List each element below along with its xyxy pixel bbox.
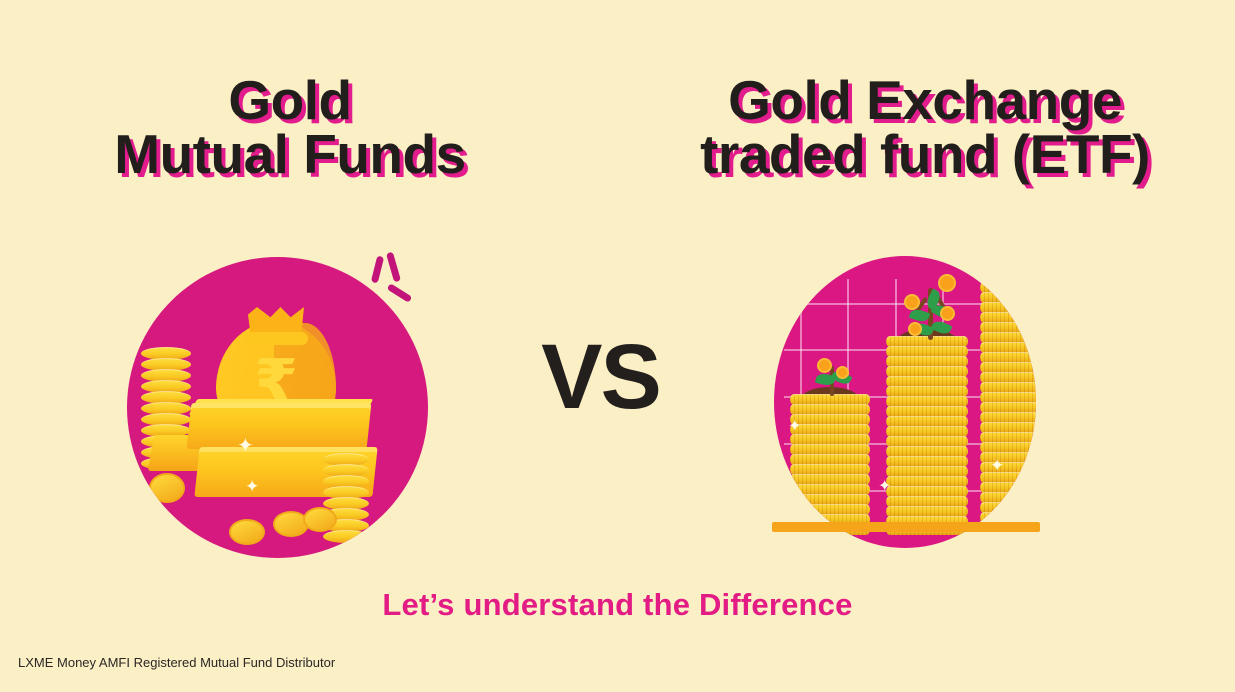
sparkle-icon: ✦	[788, 418, 801, 434]
sparkle-icon: ✦	[878, 478, 891, 494]
sparkle-icon: ✦	[245, 479, 259, 496]
sparkle-icon: ✦	[237, 435, 254, 455]
loose-coin-icon	[149, 473, 185, 503]
coin-stack-small-icon	[790, 394, 870, 534]
money-bag-tie	[244, 332, 308, 345]
money-plant-large-icon	[984, 256, 1036, 276]
sparkle-icon: ✦	[990, 458, 1004, 475]
loose-coin-icon	[229, 519, 265, 545]
illustration-gold-etf: ✦ ✦ ✦	[774, 256, 1036, 548]
coin-stack-medium-icon	[886, 336, 968, 534]
gold-bar-top-icon	[187, 403, 372, 449]
chart-base-bar	[772, 522, 1040, 532]
page-title-right: Gold Exchange traded fund (ETF)	[620, 74, 1230, 182]
page-title-left: Gold Mutual Funds	[60, 74, 520, 182]
motion-marks-icon	[368, 252, 428, 312]
loose-coin-icon	[303, 507, 337, 532]
money-plant-medium-icon	[902, 270, 960, 340]
money-plant-small-icon	[812, 358, 854, 396]
coin-stack-short-icon	[323, 453, 369, 549]
right-illustration-clip: ✦ ✦ ✦	[774, 256, 1036, 548]
coin-stack-large-icon	[980, 272, 1036, 534]
versus-label: VS	[528, 331, 673, 423]
slide-canvas: Gold Mutual Funds Gold Exchange traded f…	[0, 0, 1235, 692]
footer-disclaimer: LXME Money AMFI Registered Mutual Fund D…	[18, 655, 335, 670]
tagline-text: Let’s understand the Difference	[0, 587, 1235, 623]
